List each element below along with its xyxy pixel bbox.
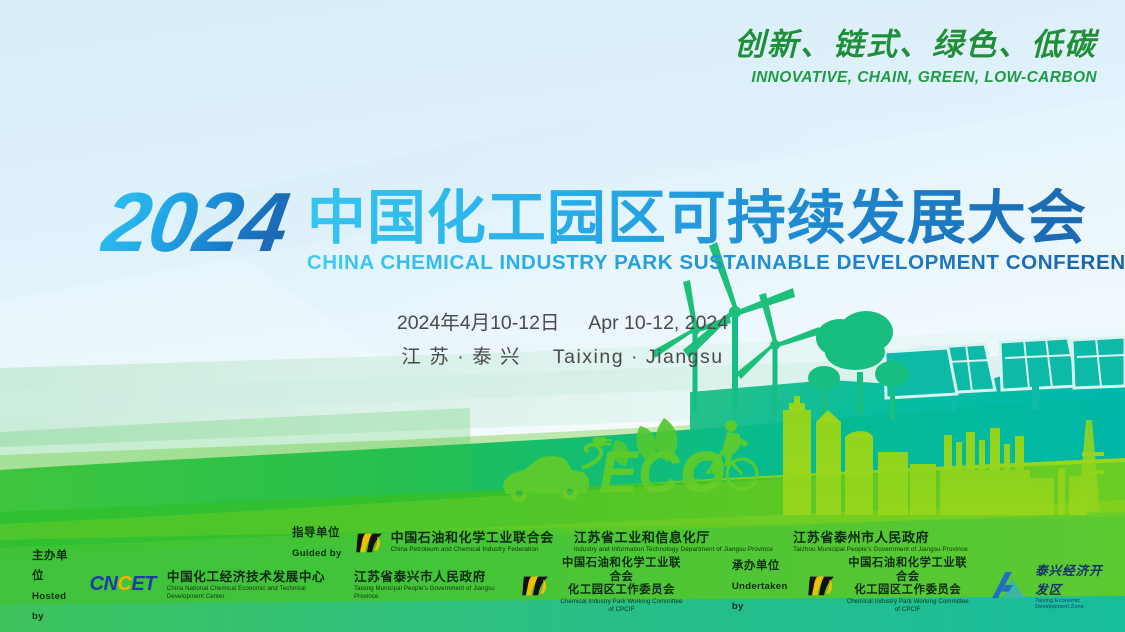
org-cncet-en: China National Chemical Economic and Tec… bbox=[167, 585, 334, 600]
slogan-chinese: 创新、链式、绿色、低碳 bbox=[734, 28, 1097, 62]
org-taixing-gov-cn: 江苏省泰兴市人民政府 bbox=[354, 570, 502, 585]
org-cpcif: 中国石油和化学工业联合会 China Petroleum and Chemica… bbox=[356, 530, 554, 554]
org-cpcif-en: China Petroleum and Chemical Industry Fe… bbox=[391, 546, 554, 554]
conference-banner: ECO bbox=[0, 0, 1125, 632]
org-taixing-edz: 泰兴经济开发区 Taixing Economic Development Zon… bbox=[992, 560, 1115, 610]
title-year: 2024 bbox=[98, 186, 293, 260]
hosted-by-label-en: Hosted by bbox=[32, 591, 66, 622]
org-cpcif-cipwc-host: 中国石油和化学工业联合会 化工园区工作委员会 Chemical Industry… bbox=[522, 557, 686, 613]
org-cpcif-cipwc-undertaker: 中国石油和化学工业联合会 化工园区工作委员会 Chemical Industry… bbox=[808, 557, 972, 613]
undertaken-by-label: 承办单位 Undertaken by bbox=[732, 555, 795, 615]
org-taixing-gov: 江苏省泰兴市人民政府 Taixing Municipal People's Go… bbox=[354, 570, 502, 600]
hosted-by-label: 主办单位 Hosted by bbox=[32, 545, 76, 625]
org-jiangsu-miit-en: Industry and Information Technology Depa… bbox=[574, 546, 773, 554]
title-english: CHINA CHEMICAL INDUSTRY PARK SUSTAINABLE… bbox=[307, 251, 1125, 275]
guided-by-label-cn: 指导单位 bbox=[292, 527, 340, 539]
org-taixing-edz-en: Taixing Economic Development Zone bbox=[1035, 598, 1115, 610]
org-cpcif-cipwc-undertaker-cn1: 中国石油和化学工业联合会 bbox=[843, 557, 972, 585]
org-taixing-gov-en: Taixing Municipal People's Government of… bbox=[354, 585, 502, 600]
guided-by-row: 指导单位 Guided by 中国石油和化学工业联合会 China Petrol… bbox=[0, 524, 1125, 560]
cncet-wordmark-logo: CNCET bbox=[90, 573, 156, 596]
org-cncet-cn: 中国化工经济技术发展中心 bbox=[167, 570, 334, 585]
org-cpcif-cn: 中国石油和化学工业联合会 bbox=[391, 530, 554, 546]
org-cpcif-cipwc-host-en: Chemical Industry Park Working Committee… bbox=[557, 598, 686, 613]
undertaken-by-label-en: Undertaken by bbox=[732, 581, 788, 612]
org-cpcif-cipwc-host-cn1: 中国石油和化学工业联合会 bbox=[557, 557, 686, 585]
guided-by-label: 指导单位 Guided by bbox=[292, 522, 342, 562]
taixing-edz-icon bbox=[992, 570, 1028, 600]
org-cncet: CNCET 中国化工经济技术发展中心 China National Chemic… bbox=[90, 570, 335, 600]
org-cpcif-cipwc-undertaker-cn2: 化工园区工作委员会 bbox=[843, 584, 972, 598]
org-taizhou-gov: 江苏省泰州市人民政府 Taizhou Municipal People's Go… bbox=[793, 530, 968, 554]
cpcif-swoosh-icon bbox=[356, 531, 383, 554]
cpcif-swoosh-icon bbox=[522, 574, 549, 597]
guided-by-label-en: Guided by bbox=[292, 548, 342, 559]
org-jiangsu-miit: 江苏省工业和信息化厅 Industry and Information Tech… bbox=[574, 530, 773, 554]
slogan-block: 创新、链式、绿色、低碳 INNOVATIVE, CHAIN, GREEN, LO… bbox=[734, 28, 1097, 86]
org-jiangsu-miit-cn: 江苏省工业和信息化厅 bbox=[574, 530, 773, 546]
title-chinese: 中国化工园区可持续发展大会 bbox=[307, 188, 1125, 248]
org-cpcif-cipwc-host-cn2: 化工园区工作委员会 bbox=[557, 584, 686, 598]
org-cpcif-cipwc-undertaker-en: Chemical Industry Park Working Committee… bbox=[843, 598, 972, 613]
org-taizhou-gov-cn: 江苏省泰州市人民政府 bbox=[793, 530, 968, 546]
hosted-by-label-cn: 主办单位 bbox=[32, 550, 68, 582]
undertaken-by-label-cn: 承办单位 bbox=[732, 560, 780, 572]
org-taixing-edz-cn: 泰兴经济开发区 bbox=[1035, 560, 1115, 598]
page-title: 2024 中国化工园区可持续发展大会 CHINA CHEMICAL INDUST… bbox=[104, 186, 1125, 275]
hosted-undertaken-row: 主办单位 Hosted by CNCET 中国化工经济技术发展中心 China … bbox=[0, 563, 1125, 607]
cpcif-swoosh-icon bbox=[808, 574, 835, 597]
slogan-english: INNOVATIVE, CHAIN, GREEN, LOW-CARBON bbox=[734, 69, 1097, 86]
org-taizhou-gov-en: Taizhou Municipal People's Government of… bbox=[793, 546, 968, 554]
